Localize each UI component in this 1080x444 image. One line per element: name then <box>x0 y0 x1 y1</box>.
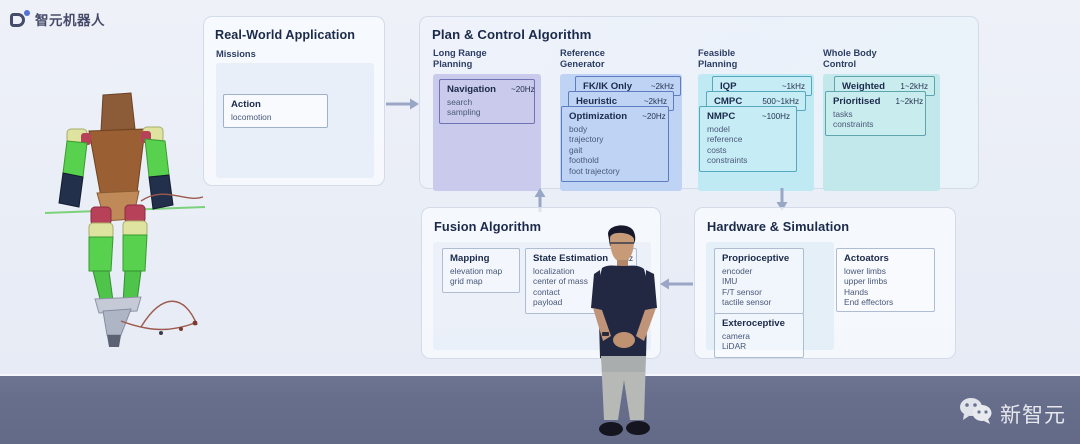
column-label-long-range-planning: Long Range Planning <box>433 48 487 70</box>
card-exteroceptive-lines: camera LiDAR <box>722 331 797 352</box>
card-optimization-name: Optimization <box>569 111 627 122</box>
card-actoators-name: Actoators <box>844 253 889 264</box>
card-prioritised[interactable]: Prioritised 1~2kHz tasks constraints <box>825 91 926 136</box>
card-nmpc[interactable]: NMPC ~100Hz model reference costs constr… <box>699 106 797 172</box>
presenter-figure <box>574 222 674 444</box>
panel-plan-control-algorithm: Plan & Control Algorithm Long Range Plan… <box>419 16 979 189</box>
card-heuristic-freq: ~2kHz <box>636 97 667 106</box>
card-action-lines: locomotion <box>231 112 321 122</box>
agibot-logo-icon <box>10 10 29 29</box>
card-navigation-name: Navigation <box>447 84 496 95</box>
card-proprioceptive-name: Proprioceptive <box>722 253 789 264</box>
card-fk-ik-only-freq: ~2kHz <box>643 82 674 91</box>
card-action[interactable]: Action locomotion <box>223 94 328 128</box>
card-mapping-name: Mapping <box>450 253 489 264</box>
card-proprioceptive[interactable]: Proprioceptive encoder IMU F/T sensor ta… <box>714 248 804 314</box>
card-prioritised-name: Prioritised <box>833 96 880 107</box>
card-navigation-freq: ~20Hz <box>503 85 535 94</box>
stage-floor <box>0 376 1080 444</box>
card-optimization[interactable]: Optimization ~20Hz body trajectory gait … <box>561 106 669 182</box>
arrow-realworld-to-plan <box>386 97 420 116</box>
brand-logo: 智元机器人 <box>10 9 105 29</box>
watermark-text: 新智元 <box>1000 399 1066 429</box>
card-nmpc-freq: ~100Hz <box>754 112 790 121</box>
column-label-whole-body-control: Whole Body Control <box>823 48 877 70</box>
card-nmpc-name: NMPC <box>707 111 735 122</box>
card-proprioceptive-lines: encoder IMU F/T sensor tactile sensor <box>722 266 797 308</box>
card-actoators[interactable]: Actoators lower limbs upper limbs Hands … <box>836 248 935 312</box>
panel-real-world-application: Real-World Application Missions Action l… <box>203 16 385 186</box>
card-navigation[interactable]: Navigation ~20Hz search sampling <box>439 79 535 124</box>
presentation-scene: 智元机器人 <box>0 0 1080 444</box>
robot-simulation-figure <box>45 85 205 350</box>
panel-title-plan-control: Plan & Control Algorithm <box>432 27 591 42</box>
card-prioritised-lines: tasks constraints <box>833 109 919 130</box>
card-mapping-lines: elevation map grid map <box>450 266 513 287</box>
card-action-name: Action <box>231 99 261 110</box>
card-exteroceptive[interactable]: Exteroceptive camera LiDAR <box>714 313 804 358</box>
wechat-icon <box>959 397 993 430</box>
panel-title-real-world: Real-World Application <box>215 28 355 42</box>
brand-name: 智元机器人 <box>35 9 105 29</box>
panel-title-hardware: Hardware & Simulation <box>707 219 849 234</box>
card-prioritised-freq: 1~2kHz <box>887 97 923 106</box>
card-cmpc-freq: 500~1kHz <box>754 97 799 106</box>
panel-hardware-simulation: Hardware & Simulation Proprioceptive enc… <box>694 207 956 359</box>
card-mapping[interactable]: Mapping elevation map grid map <box>442 248 520 293</box>
column-label-feasible-planning: Feasible Planning <box>698 48 737 70</box>
card-optimization-lines: body trajectory gait foothold foot traje… <box>569 124 662 176</box>
card-actoators-lines: lower limbs upper limbs Hands End effect… <box>844 266 928 308</box>
card-optimization-freq: ~20Hz <box>634 112 666 121</box>
subsection-missions: Missions <box>216 49 256 60</box>
card-iqp-freq: ~1kHz <box>774 82 805 91</box>
watermark: 新智元 <box>959 397 1066 430</box>
column-label-reference-generator: Reference Generator <box>560 48 605 70</box>
panel-title-fusion: Fusion Algorithm <box>434 219 541 234</box>
card-navigation-lines: search sampling <box>447 97 528 118</box>
card-weighted-freq: 1~2kHz <box>892 82 928 91</box>
card-exteroceptive-name: Exteroceptive <box>722 318 785 329</box>
card-nmpc-lines: model reference costs constraints <box>707 124 790 166</box>
